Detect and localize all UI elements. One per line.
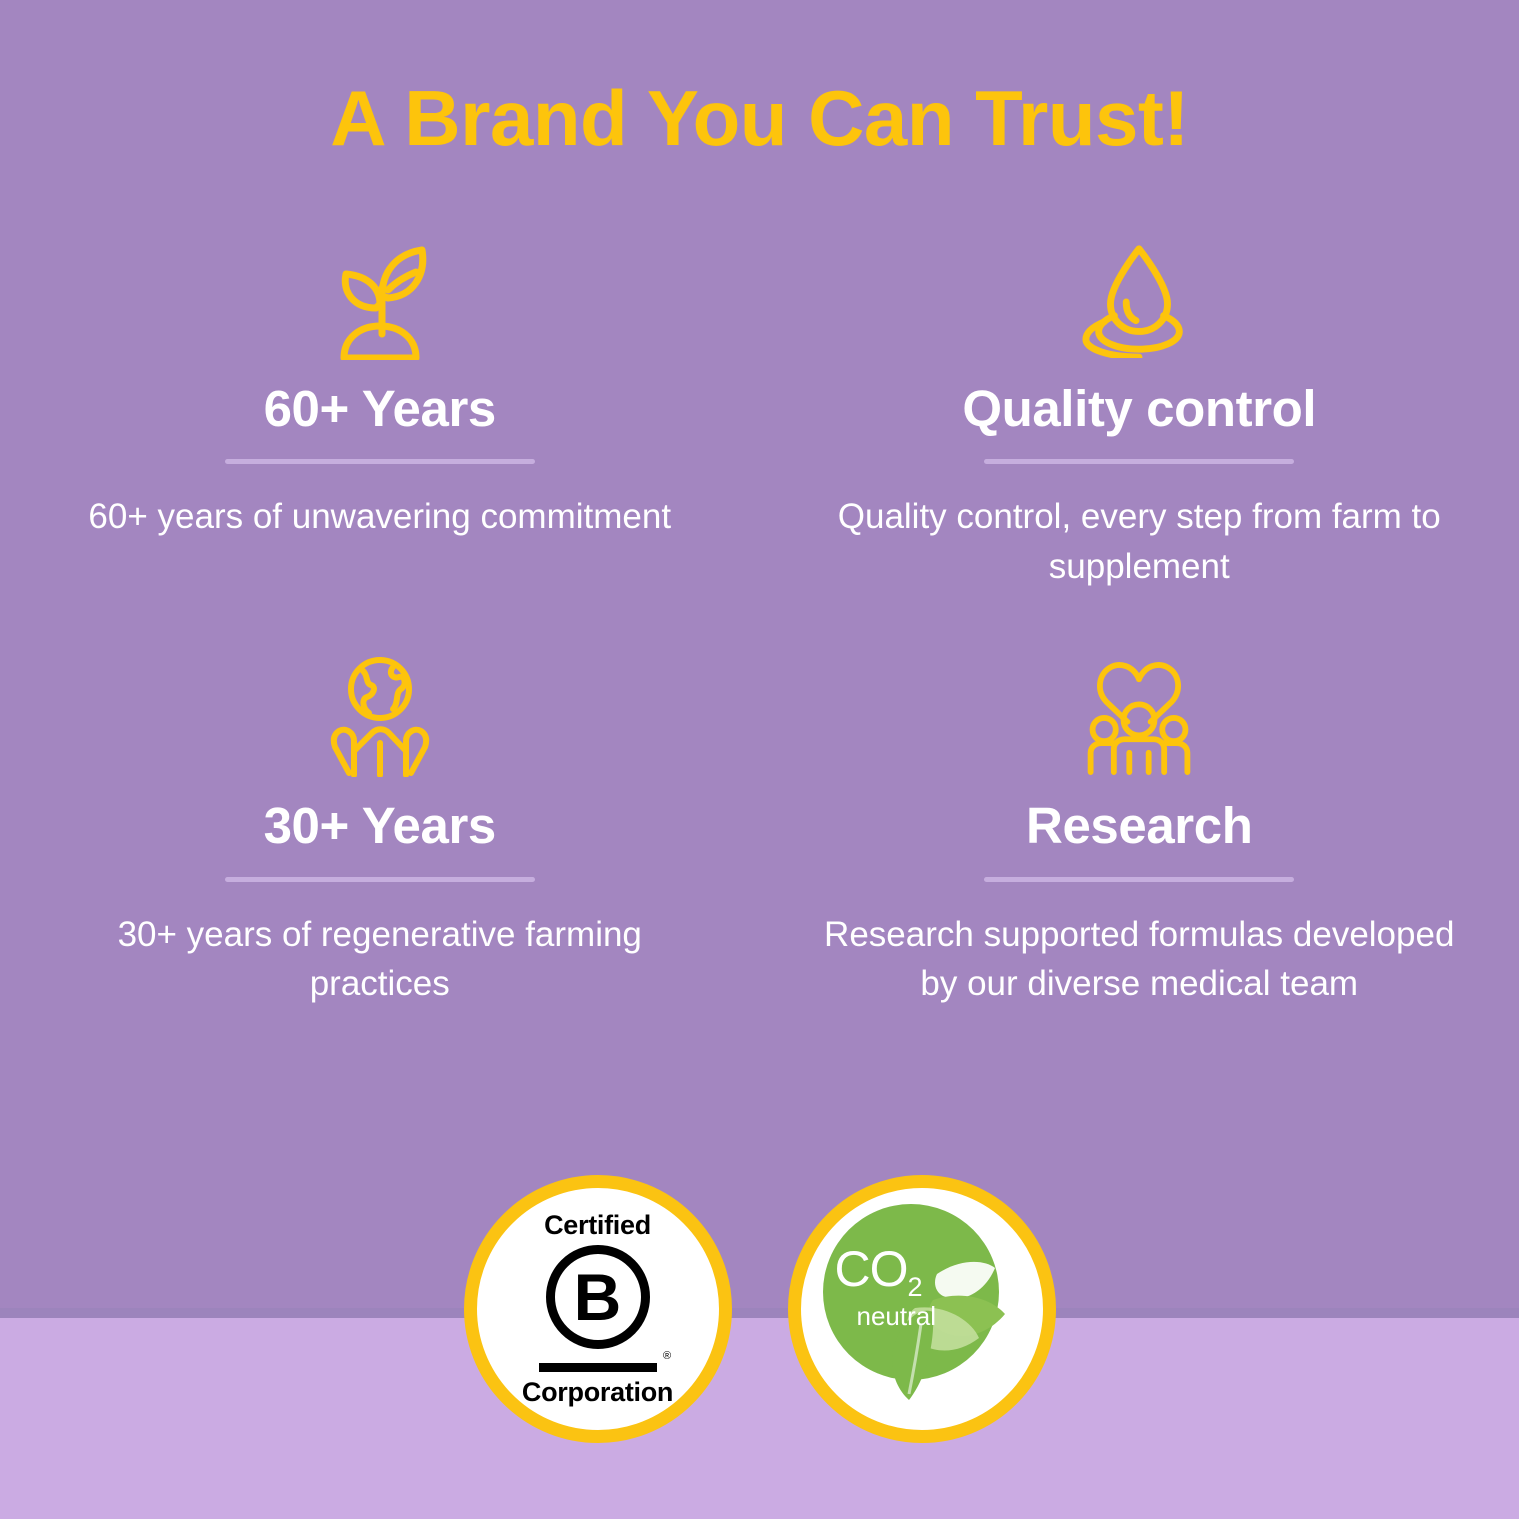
bcorp-corporation-label: Corporation — [522, 1379, 673, 1406]
feature-divider — [984, 877, 1294, 882]
feature-divider — [984, 459, 1294, 464]
feature-card-quality-control: Quality control Quality control, every s… — [760, 236, 1519, 591]
feature-body: 30+ years of regenerative farming practi… — [80, 910, 680, 1009]
co2-logo: CO2 neutral — [809, 1196, 1035, 1422]
feature-heading: Research — [1026, 797, 1252, 854]
feature-grid: 60+ Years 60+ years of unwavering commit… — [0, 236, 1519, 1009]
bcorp-certified-label: Certified — [544, 1212, 651, 1239]
sprout-icon — [320, 236, 440, 362]
water-drop-icon — [1079, 236, 1199, 362]
feature-divider — [225, 459, 535, 464]
feature-body: Research supported formulas developed by… — [819, 910, 1459, 1009]
feature-body: 60+ years of unwavering commitment — [88, 492, 671, 542]
registered-trademark-icon: ® — [663, 1351, 671, 1362]
feature-card-years-30: 30+ Years 30+ years of regenerative farm… — [0, 653, 760, 1008]
feature-heading: Quality control — [962, 380, 1316, 437]
hands-holding-globe-icon — [320, 653, 440, 779]
certification-badges: Certified B ® Corporation CO2 n — [0, 1175, 1519, 1443]
feature-divider — [225, 877, 535, 882]
co2-label: CO — [835, 1244, 908, 1294]
bcorp-logo: Certified B ® Corporation — [522, 1212, 673, 1406]
co2-neutral-badge: CO2 neutral — [788, 1175, 1056, 1443]
co2-subscript: 2 — [908, 1272, 923, 1302]
bcorp-b-mark: B — [546, 1245, 650, 1349]
feature-card-years-60: 60+ Years 60+ years of unwavering commit… — [0, 236, 760, 591]
certified-b-corporation-badge: Certified B ® Corporation — [464, 1175, 732, 1443]
co2-text-block: CO2 neutral — [835, 1244, 985, 1329]
bcorp-rule — [539, 1363, 657, 1372]
co2-neutral-label: neutral — [857, 1303, 985, 1329]
family-heart-icon — [1079, 653, 1199, 779]
feature-heading: 60+ Years — [264, 380, 496, 437]
page-title: A Brand You Can Trust! — [0, 76, 1519, 162]
feature-body: Quality control, every step from farm to… — [819, 492, 1459, 591]
feature-heading: 30+ Years — [264, 797, 496, 854]
promo-poster: A Brand You Can Trust! 60+ Years 60+ yea… — [0, 0, 1519, 1519]
feature-card-research: Research Research supported formulas dev… — [760, 653, 1519, 1008]
